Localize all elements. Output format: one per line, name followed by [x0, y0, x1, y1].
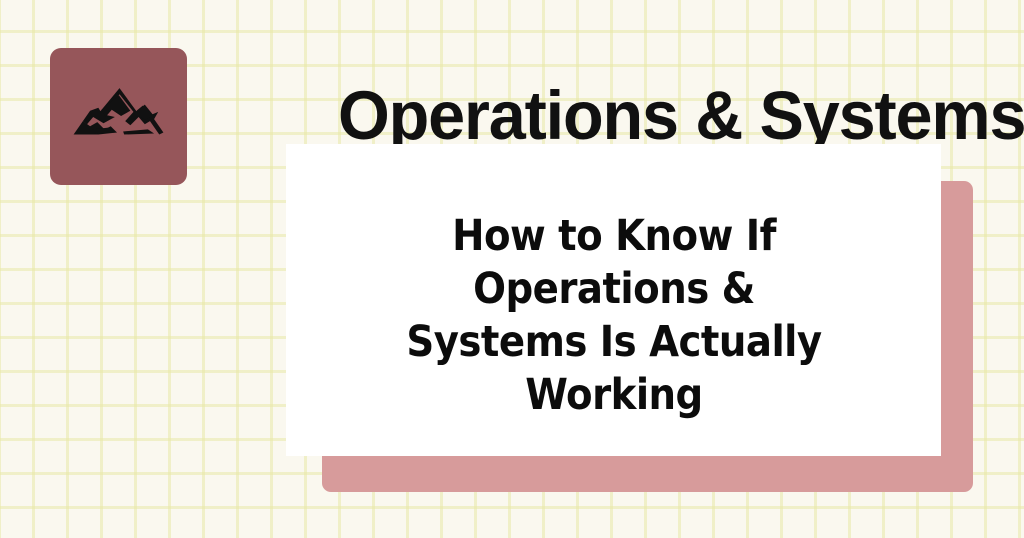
- page-title: Operations & Systems: [338, 78, 956, 154]
- headline-line: How to Know If Operations &: [452, 211, 776, 314]
- headline-line: Working: [525, 370, 702, 420]
- headline-line: Systems Is Actually: [406, 317, 821, 367]
- logo-badge: [50, 48, 187, 185]
- headline: How to Know If Operations &Systems Is Ac…: [344, 210, 884, 422]
- headline-card: How to Know If Operations &Systems Is Ac…: [286, 144, 941, 456]
- mountain-icon: [67, 85, 171, 149]
